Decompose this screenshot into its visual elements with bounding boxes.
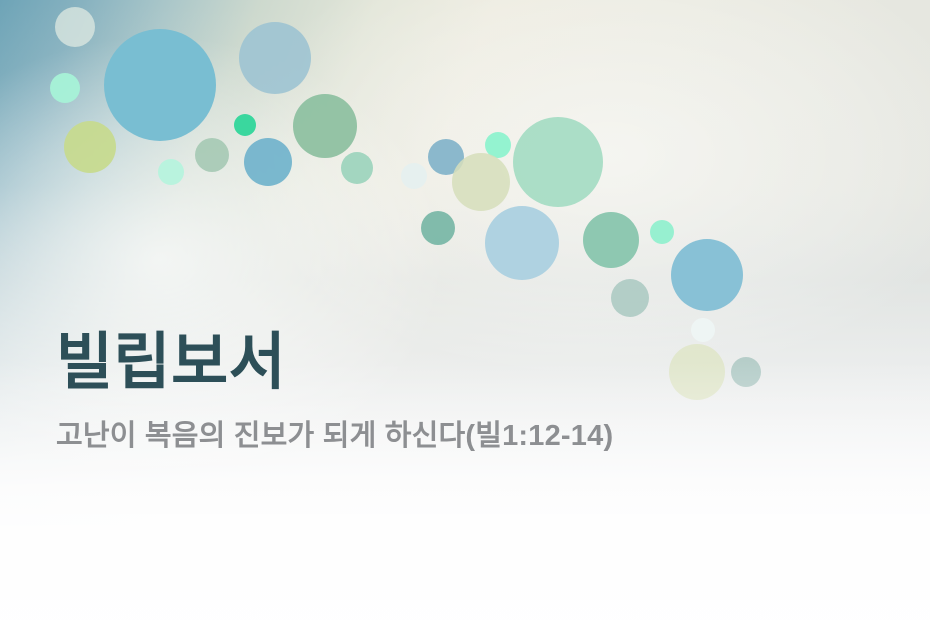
bubble-circle	[513, 117, 603, 207]
bubble-circle	[650, 220, 674, 244]
bubble-circle	[671, 239, 743, 311]
bubble-circle	[239, 22, 311, 94]
page-subtitle: 고난이 복음의 진보가 되게 하신다(빌1:12-14)	[56, 419, 876, 454]
bubble-circle	[611, 279, 649, 317]
page-title: 빌립보서	[56, 330, 876, 397]
bubble-circle	[50, 73, 80, 103]
bubble-circle	[421, 211, 455, 245]
decorative-bubble-cluster	[0, 0, 930, 620]
bubble-circle	[485, 206, 559, 280]
bubble-circle	[158, 159, 184, 185]
bubble-circle	[583, 212, 639, 268]
bubble-circle	[452, 153, 510, 211]
bubble-circle	[195, 138, 229, 172]
bubble-circle	[64, 121, 116, 173]
presentation-slide: 빌립보서 고난이 복음의 진보가 되게 하신다(빌1:12-14)	[0, 0, 930, 620]
bubble-circle	[401, 163, 427, 189]
bubble-circle	[341, 152, 373, 184]
bubble-circle	[244, 138, 292, 186]
bubble-circle	[234, 114, 256, 136]
bubble-circle	[104, 29, 216, 141]
title-text-block: 빌립보서 고난이 복음의 진보가 되게 하신다(빌1:12-14)	[56, 330, 876, 454]
bubble-circle	[55, 7, 95, 47]
bubble-circle	[293, 94, 357, 158]
